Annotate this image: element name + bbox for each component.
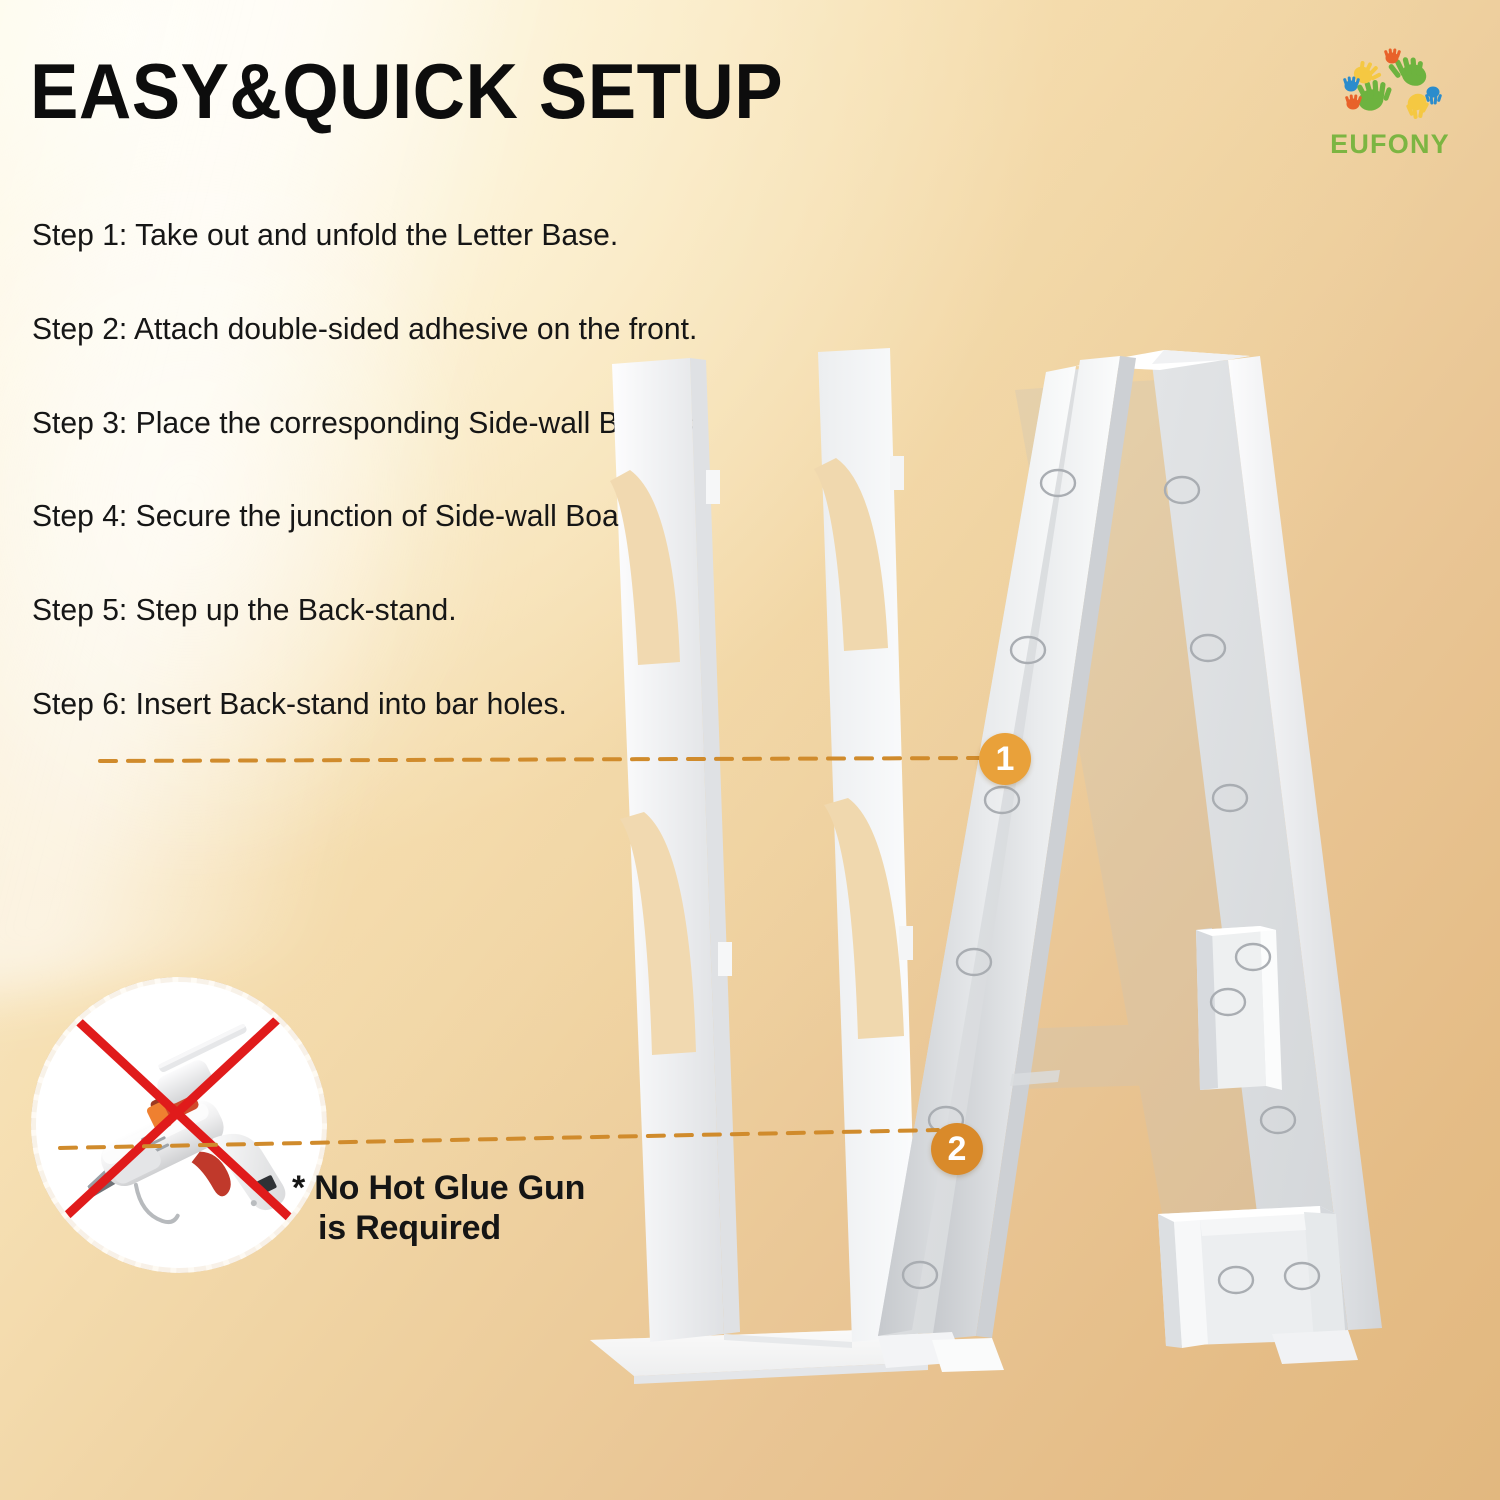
hot-glue-gun-prohibited-icon xyxy=(36,982,322,1268)
brand-name: EUFONY xyxy=(1322,129,1458,160)
marquee-letter-a-illustration xyxy=(560,330,1500,1410)
page-title: EASY&QUICK SETUP xyxy=(30,52,783,130)
product-artwork xyxy=(560,330,1500,1410)
callout-badge-2[interactable]: 2 xyxy=(931,1123,983,1175)
step-item-1: Step 1: Take out and unfold the Letter B… xyxy=(32,216,798,254)
infographic-canvas: EASY&QUICK SETUP xyxy=(0,0,1500,1500)
handprints-circle-icon xyxy=(1322,48,1458,126)
no-glue-gun-badge xyxy=(36,982,322,1268)
callout-badge-1[interactable]: 1 xyxy=(979,733,1031,785)
brand-logo: EUFONY xyxy=(1322,48,1458,160)
